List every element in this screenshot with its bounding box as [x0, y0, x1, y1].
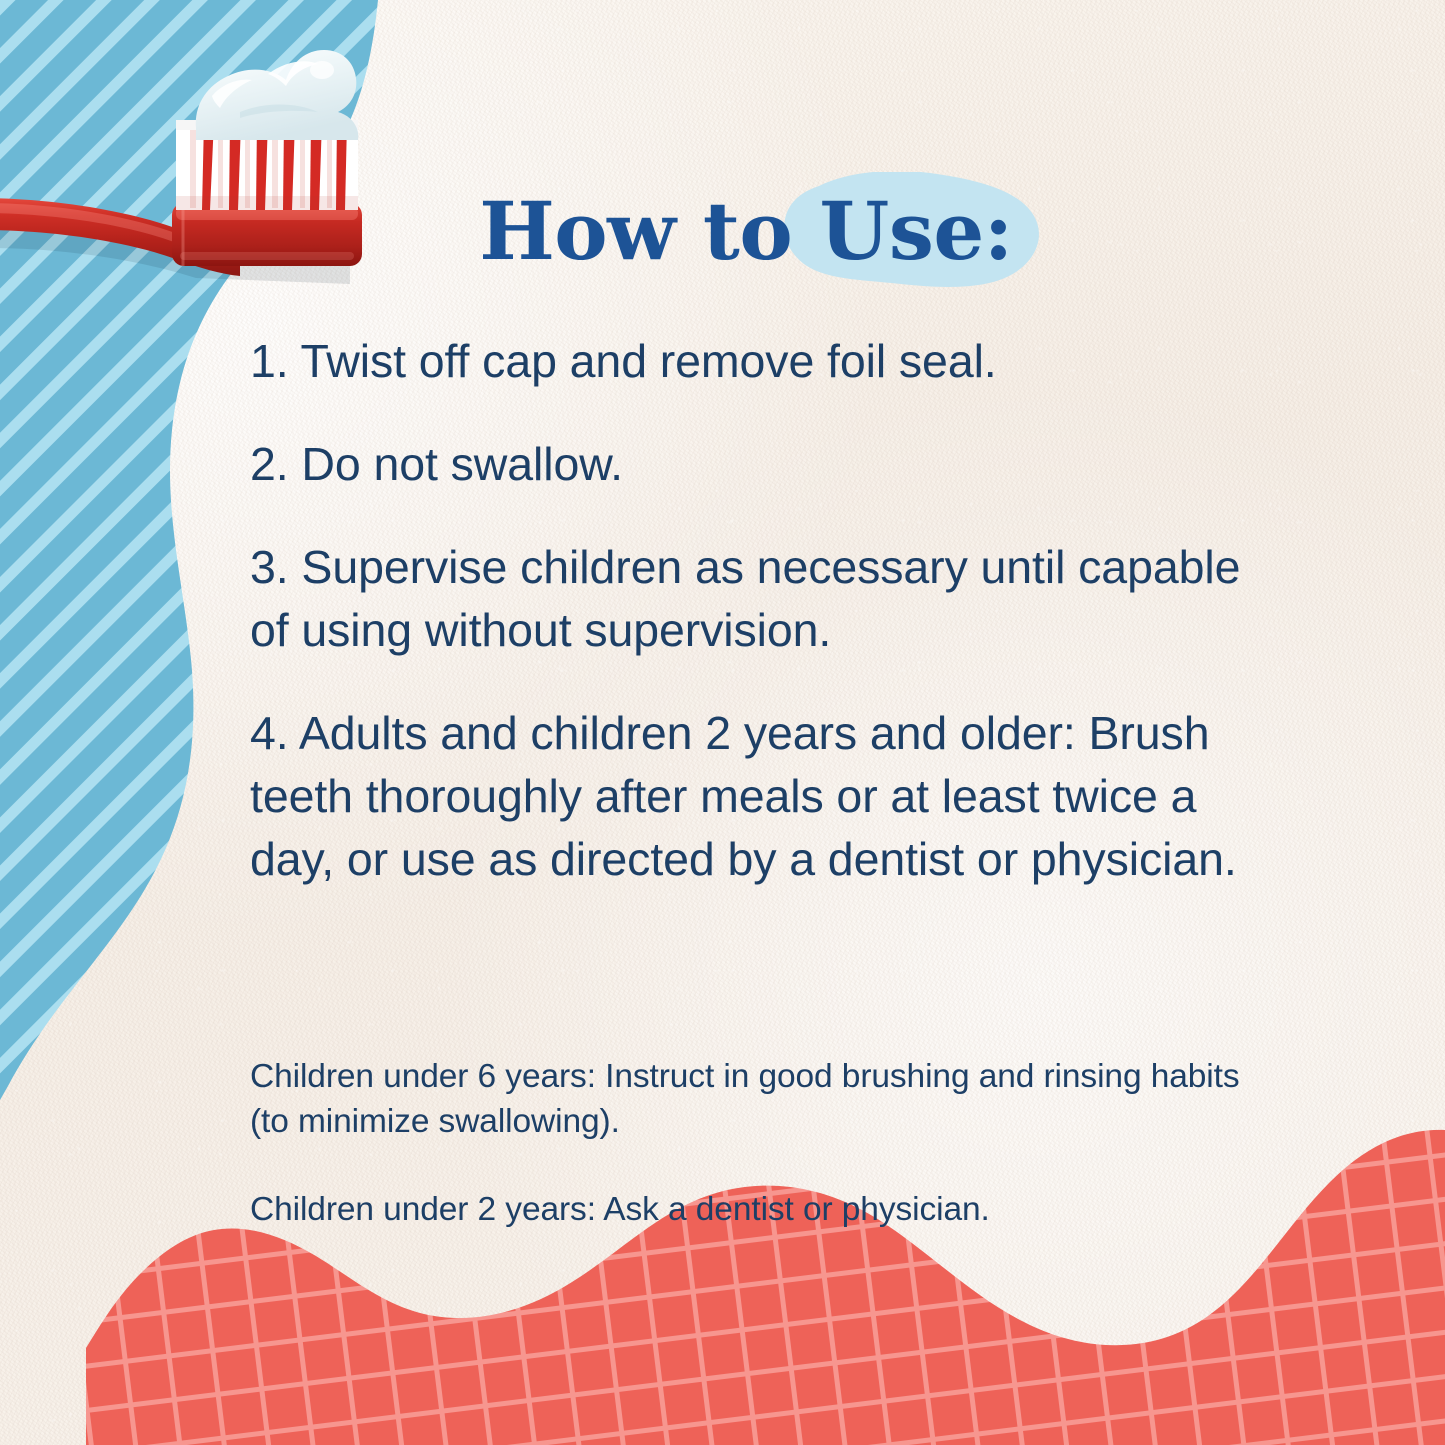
- usage-step: 2. Do not swallow.: [250, 433, 1242, 496]
- usage-step: 3. Supervise children as necessary until…: [250, 536, 1242, 662]
- usage-notes-list: Children under 6 years: Instruct in good…: [250, 1055, 1250, 1233]
- content-column: How to Use: 1. Twist off cap and remove …: [246, 0, 1246, 1445]
- title-area: How to Use:: [246, 176, 1246, 304]
- usage-step: 4. Adults and children 2 years and older…: [250, 702, 1242, 891]
- usage-steps-list: 1. Twist off cap and remove foil seal. 2…: [250, 330, 1242, 931]
- instruction-card: How to Use: 1. Twist off cap and remove …: [0, 0, 1445, 1445]
- usage-note: Children under 6 years: Instruct in good…: [250, 1055, 1250, 1144]
- usage-step: 1. Twist off cap and remove foil seal.: [250, 330, 1242, 393]
- page-title: How to Use:: [479, 176, 1013, 286]
- usage-note: Children under 2 years: Ask a dentist or…: [250, 1188, 1250, 1233]
